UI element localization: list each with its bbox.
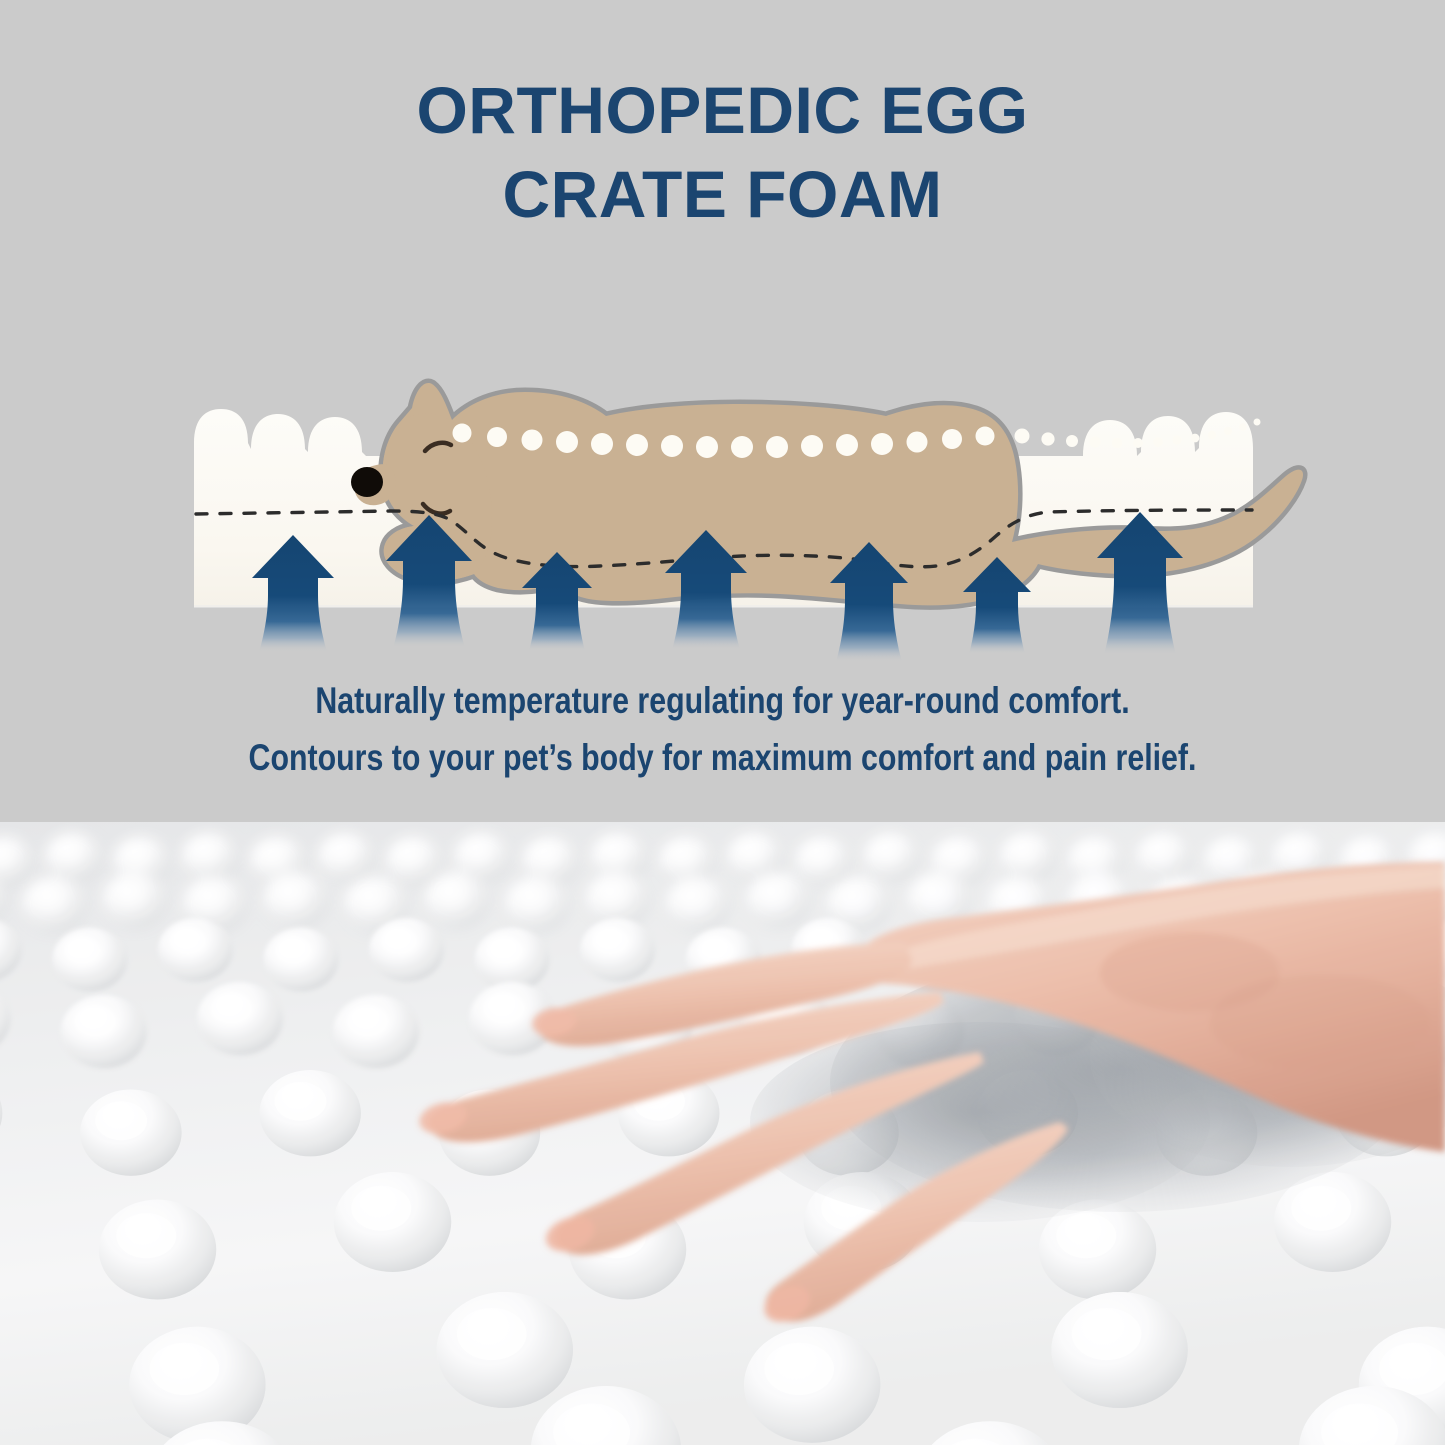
foam-support-diagram (0, 280, 1445, 670)
egg-crate-foam-photo (0, 822, 1445, 1445)
infographic-top-panel: Orthopedic Egg Crate Foam (0, 0, 1445, 822)
page-title: Orthopedic Egg Crate Foam (0, 68, 1445, 237)
foam-photo-panel (0, 822, 1445, 1445)
dog-nose-icon (351, 467, 383, 497)
product-infographic: Orthopedic Egg Crate Foam (0, 0, 1445, 1445)
caption-line-1: Naturally temperature regulating for yea… (130, 672, 1315, 729)
caption-block: Naturally temperature regulating for yea… (0, 672, 1445, 787)
caption-line-2: Contours to your pet’s body for maximum … (130, 729, 1315, 786)
